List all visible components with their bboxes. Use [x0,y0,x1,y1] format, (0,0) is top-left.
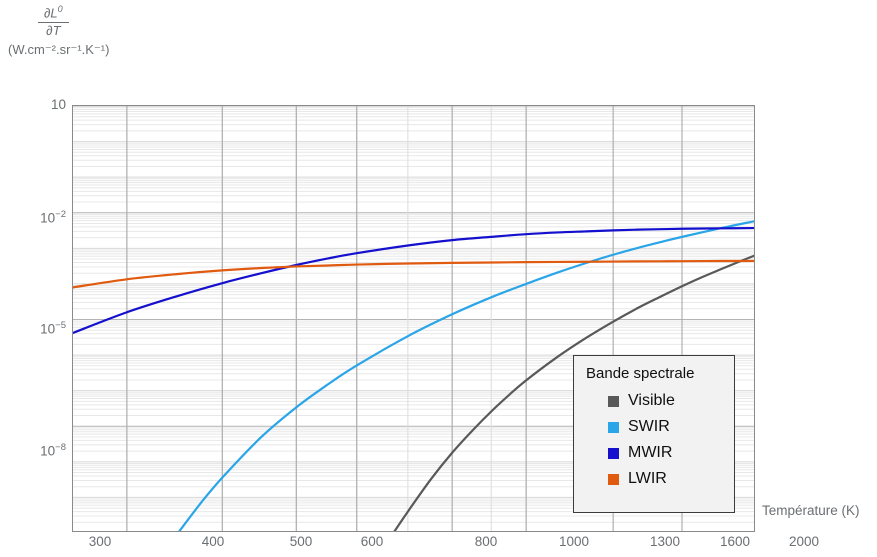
x-tick-label-2000: 2000 [779,534,829,549]
y-axis-derivative: ∂L0 ∂T [38,4,69,39]
x-tick-label-600: 600 [347,534,397,549]
legend-item-mwir[interactable]: MWIR [584,440,724,466]
x-axis-label: Température (K) [762,503,860,518]
y-tick-label-2: 10−5 [20,320,66,337]
legend-title: Bande spectrale [586,365,724,382]
legend-item-visible[interactable]: Visible [584,388,724,414]
legend: Bande spectrale Visible SWIR MWIR LWIR [573,355,735,513]
y-tick-label-3: 10−8 [20,442,66,459]
y-axis-label: ∂L0 ∂T (W.cm⁻².sr⁻¹.K⁻¹) [8,4,109,58]
y-tick-label-0: 10 [20,97,66,112]
y-tick-label-1: 10−2 [20,209,66,226]
legend-swatch-lwir [608,474,619,485]
y-axis-units: (W.cm⁻².sr⁻¹.K⁻¹) [8,43,109,58]
chart-page: ∂L0 ∂T (W.cm⁻².sr⁻¹.K⁻¹) 10 10−2 10−5 10… [0,0,877,557]
x-tick-label-300: 300 [75,534,125,549]
y-axis-numerator-sup: 0 [58,4,63,14]
y-axis-numerator: ∂L0 [38,4,69,22]
legend-label-visible: Visible [628,392,675,410]
legend-item-lwir[interactable]: LWIR [584,466,724,492]
legend-item-swir[interactable]: SWIR [584,414,724,440]
legend-swatch-visible [608,396,619,407]
x-tick-label-1600: 1600 [710,534,760,549]
y-axis-denominator: ∂T [38,22,69,39]
legend-label-swir: SWIR [628,418,670,436]
legend-swatch-swir [608,422,619,433]
legend-swatch-mwir [608,448,619,459]
x-tick-label-800: 800 [461,534,511,549]
x-tick-label-1300: 1300 [640,534,690,549]
legend-label-lwir: LWIR [628,470,667,488]
legend-label-mwir: MWIR [628,444,672,462]
x-tick-label-500: 500 [276,534,326,549]
x-tick-label-400: 400 [188,534,238,549]
x-tick-label-1000: 1000 [549,534,599,549]
series-line-lwir [73,261,755,287]
